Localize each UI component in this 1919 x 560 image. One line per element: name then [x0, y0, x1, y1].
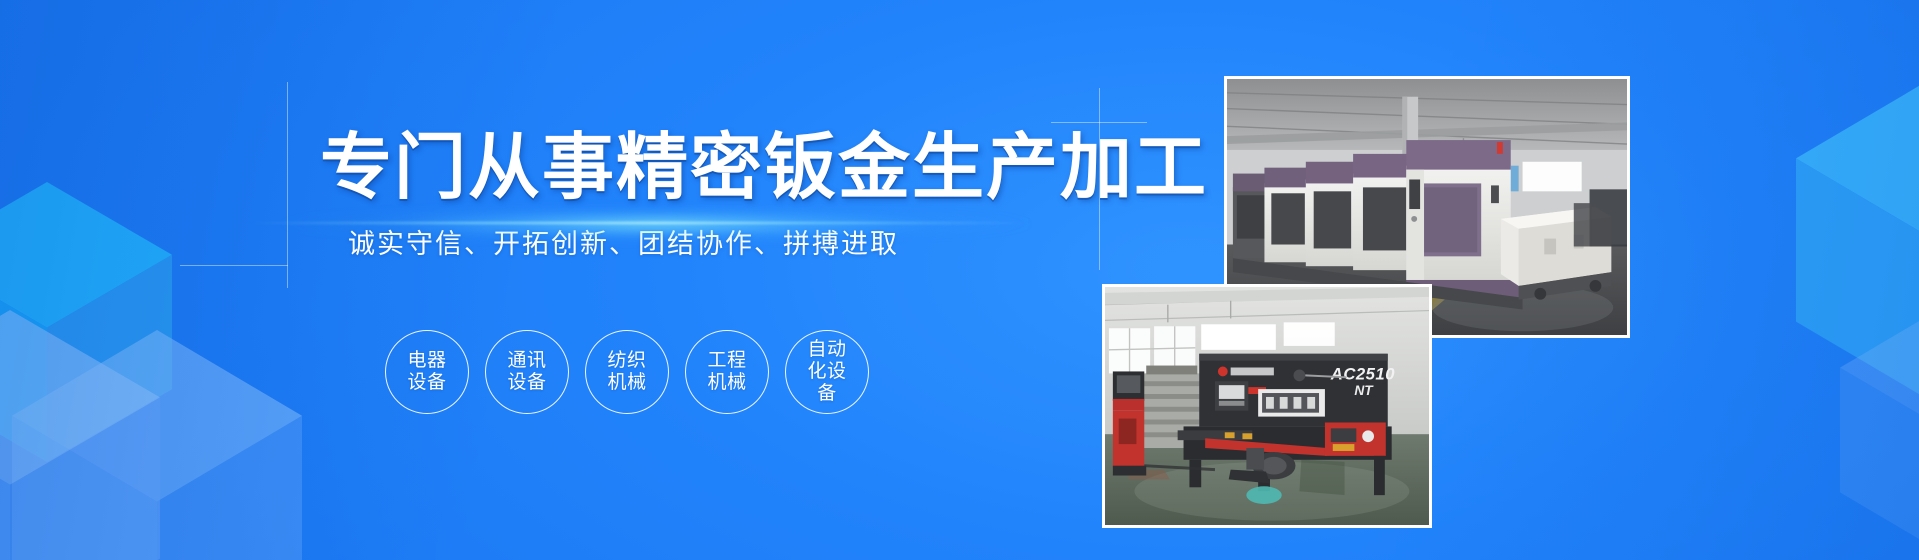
- promo-banner: 专门从事精密钣金生产加工 诚实守信、开拓创新、团结协作、拼搏进取 电器设备 通讯…: [0, 0, 1919, 560]
- headline-block: 专门从事精密钣金生产加工 诚实守信、开拓创新、团结协作、拼搏进取: [320, 132, 1100, 260]
- banner-subheadline: 诚实守信、开拓创新、团结协作、拼搏进取: [348, 230, 1100, 260]
- category-badge-label: 通讯设备: [501, 350, 553, 394]
- category-badge-communication-equipment[interactable]: 通讯设备: [485, 330, 569, 414]
- background-vignette: [0, 0, 1919, 560]
- category-badge-label: 纺织机械: [601, 350, 653, 394]
- photo-amada-turret-punch-press[interactable]: AC2510 NT: [1102, 284, 1432, 528]
- category-badge-label: 电器设备: [401, 350, 453, 394]
- svg-text:AC2510: AC2510: [1330, 364, 1395, 383]
- punch-press-workshop-illustration: AC2510 NT: [1105, 287, 1429, 527]
- svg-text:NT: NT: [1354, 383, 1374, 398]
- category-badge-engineering-machinery[interactable]: 工程机械: [685, 330, 769, 414]
- category-badge-list: 电器设备 通讯设备 纺织机械 工程机械 自动化设备: [385, 330, 869, 414]
- category-badge-electrical-equipment[interactable]: 电器设备: [385, 330, 469, 414]
- category-badge-textile-machinery[interactable]: 纺织机械: [585, 330, 669, 414]
- category-badge-label: 自动化设备: [801, 339, 853, 405]
- banner-headline: 专门从事精密钣金生产加工: [320, 132, 1100, 204]
- category-badge-automation-equipment[interactable]: 自动化设备: [785, 330, 869, 414]
- category-badge-label: 工程机械: [701, 350, 753, 394]
